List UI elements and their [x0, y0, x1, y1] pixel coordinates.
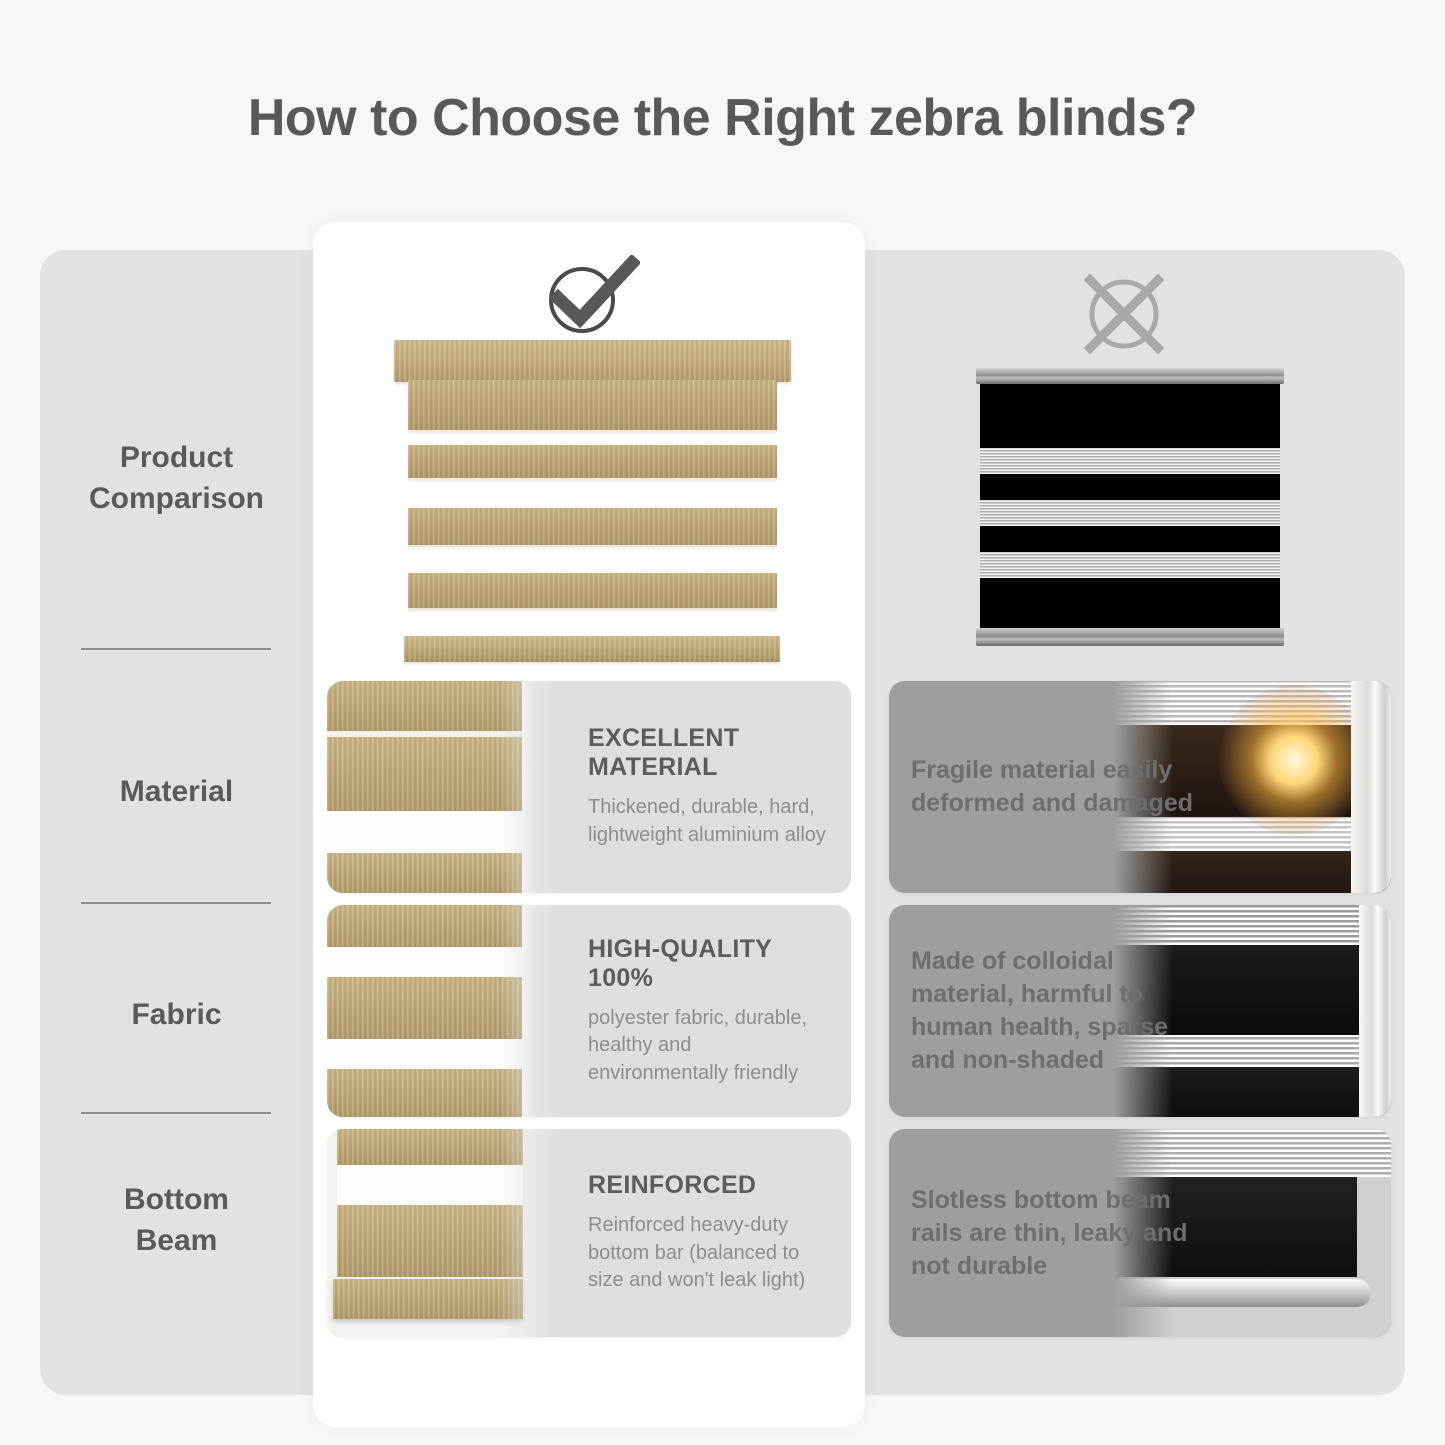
feature-photo-good-material: [327, 681, 570, 893]
feature-text-bad-material: Fragile material easily deformed and dam…: [889, 681, 1219, 893]
bad-blind-sheer-stripe: [980, 552, 1280, 578]
feature-card-good-material[interactable]: EXCELLENT MATERIAL Thickened, durable, h…: [327, 681, 851, 893]
feature-body: Thickened, durable, hard, lightweight al…: [588, 794, 833, 849]
bad-blind-sheer-stripe: [980, 500, 1280, 526]
feature-card-bad-fabric[interactable]: Made of colloidal material, harmful to h…: [889, 905, 1391, 1117]
feature-text-good-bottom-beam: REINFORCED Reinforced heavy-duty bottom …: [570, 1129, 851, 1337]
blind-bottom-bar: [404, 636, 780, 662]
feature-heading: HIGH-QUALITY 100%: [588, 935, 833, 993]
hero-image-bad-blind: [970, 368, 1290, 646]
cross-circle-icon: [1078, 268, 1170, 360]
row-label-column: Product Comparison Material Fabric Botto…: [40, 250, 313, 1395]
feature-card-bad-bottom-beam[interactable]: Slotless bottom beam rails are thin, lea…: [889, 1129, 1391, 1337]
row-label-product-comparison: Product Comparison: [40, 438, 313, 520]
row-divider-3: [81, 1112, 271, 1114]
check-circle-icon: [540, 255, 640, 337]
blind-band: [408, 445, 777, 480]
feature-photo-good-bottom-beam: [327, 1129, 570, 1337]
bad-blind-body: [980, 384, 1280, 628]
feature-text-good-fabric: HIGH-QUALITY 100% polyester fabric, dura…: [570, 905, 851, 1117]
feature-photo-good-fabric: [327, 905, 570, 1117]
blind-band: [408, 573, 777, 610]
feature-body: Fragile material easily deformed and dam…: [911, 754, 1197, 820]
row-divider-2: [81, 902, 271, 904]
feature-text-good-material: EXCELLENT MATERIAL Thickened, durable, h…: [570, 681, 851, 893]
page-title: How to Choose the Right zebra blinds?: [0, 88, 1445, 148]
feature-body: Slotless bottom beam rails are thin, lea…: [911, 1184, 1197, 1283]
row-divider-1: [81, 648, 271, 650]
blind-band: [408, 380, 777, 432]
row-label-material: Material: [40, 772, 313, 813]
feature-card-good-fabric[interactable]: HIGH-QUALITY 100% polyester fabric, dura…: [327, 905, 851, 1117]
bad-blind-headrail: [976, 368, 1284, 384]
feature-heading: REINFORCED: [588, 1171, 833, 1200]
blind-band: [408, 508, 777, 547]
hero-image-good-blind: [390, 340, 795, 670]
feature-card-bad-material[interactable]: Fragile material easily deformed and dam…: [889, 681, 1391, 893]
row-label-bottom-beam: Bottom Beam: [40, 1180, 313, 1262]
feature-card-good-bottom-beam[interactable]: REINFORCED Reinforced heavy-duty bottom …: [327, 1129, 851, 1337]
feature-body: polyester fabric, durable, healthy and e…: [588, 1005, 833, 1088]
feature-text-bad-fabric: Made of colloidal material, harmful to h…: [889, 905, 1219, 1117]
blind-headrail: [394, 340, 791, 382]
feature-body: Made of colloidal material, harmful to h…: [911, 945, 1197, 1077]
bad-blind-sheer-stripe: [980, 448, 1280, 474]
feature-text-bad-bottom-beam: Slotless bottom beam rails are thin, lea…: [889, 1129, 1219, 1337]
row-label-fabric: Fabric: [40, 995, 313, 1036]
feature-heading: EXCELLENT MATERIAL: [588, 724, 833, 782]
feature-body: Reinforced heavy-duty bottom bar (balanc…: [588, 1212, 833, 1295]
bad-blind-bottom-rail: [976, 628, 1284, 646]
